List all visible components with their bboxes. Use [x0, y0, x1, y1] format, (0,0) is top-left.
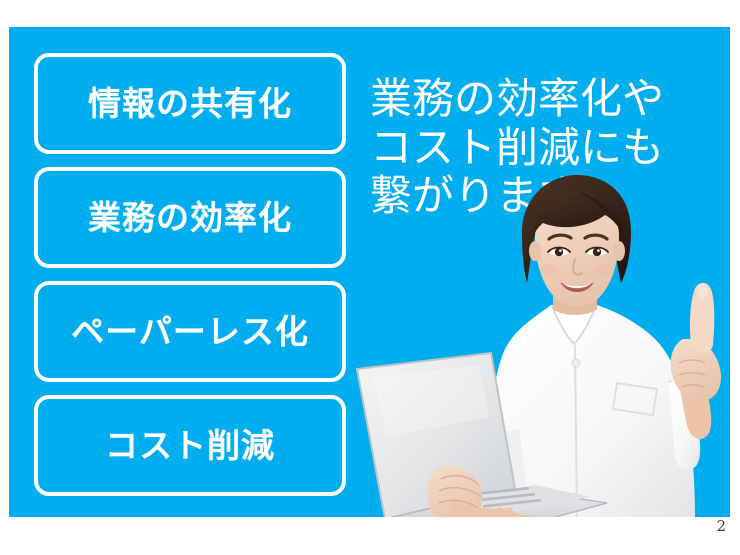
feature-box-label: ペーパーレス化	[71, 315, 309, 348]
headline-line: コスト削減にも	[370, 124, 720, 173]
uniform-shape	[486, 305, 695, 517]
feature-box-list: 情報の共有化 業務の効率化 ペーパーレス化 コスト削減	[34, 53, 346, 509]
headline-line: 業務の効率化や	[370, 75, 720, 124]
feature-box-work-efficiency[interactable]: 業務の効率化	[34, 167, 346, 268]
blue-content-panel: 情報の共有化 業務の効率化 ペーパーレス化 コスト削減 業務の効率化や コスト削…	[9, 27, 730, 517]
feature-box-paperless[interactable]: ペーパーレス化	[34, 281, 346, 382]
pointing-hand	[669, 283, 721, 470]
page-number: 2	[716, 519, 726, 534]
feature-box-label: 業務の効率化	[88, 201, 292, 234]
feature-box-information-sharing[interactable]: 情報の共有化	[34, 53, 346, 154]
feature-box-label: コスト削減	[105, 429, 275, 462]
feature-box-label: 情報の共有化	[88, 87, 292, 120]
photo-woman-with-laptop	[339, 167, 730, 517]
feature-box-cost-reduction[interactable]: コスト削減	[34, 395, 346, 496]
slide-canvas: 情報の共有化 業務の効率化 ペーパーレス化 コスト削減 業務の効率化や コスト削…	[0, 0, 740, 555]
